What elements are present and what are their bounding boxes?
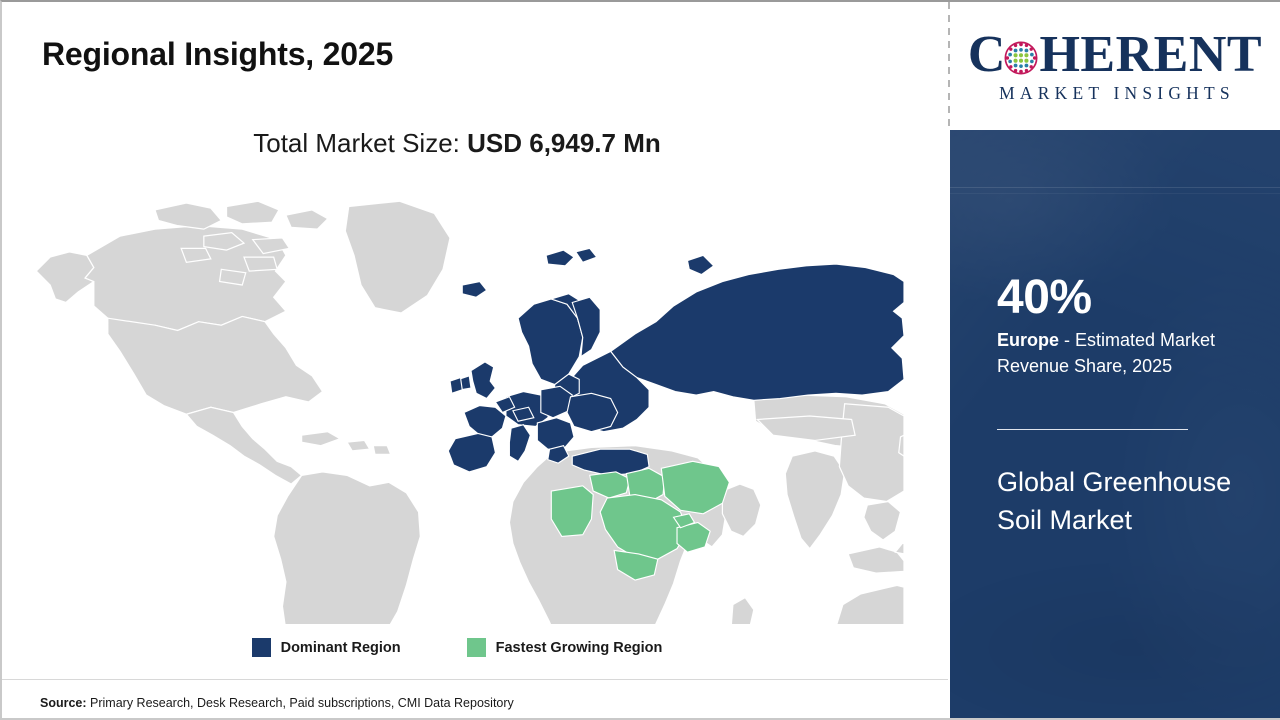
page-title: Regional Insights, 2025 (42, 36, 393, 73)
panel-divider (997, 429, 1188, 430)
share-region-name: Europe (997, 330, 1059, 350)
legend-item-fastest-growing: Fastest Growing Region (467, 638, 663, 657)
source-note: Source: Primary Research, Desk Research,… (40, 696, 514, 710)
regional-highlight-panel: 40% Europe - Estimated Market Revenue Sh… (950, 130, 1280, 718)
dominant-region-swatch (252, 638, 271, 657)
panel-streak-upper (950, 187, 1280, 188)
map-legend: Dominant Region Fastest Growing Region (2, 638, 912, 657)
market-name: Global Greenhouse Soil Market (997, 463, 1262, 540)
source-text: Primary Research, Desk Research, Paid su… (87, 696, 514, 710)
logo-wordmark-text: HERENT (1039, 29, 1262, 81)
fastest-growing-region-swatch (467, 638, 486, 657)
total-market-size: Total Market Size: USD 6,949.7 Mn (2, 128, 912, 159)
source-divider (2, 679, 948, 680)
brand-logo[interactable]: C (950, 2, 1280, 130)
share-description: Europe - Estimated Market Revenue Share,… (997, 327, 1267, 380)
panel-streak-lower (950, 193, 1280, 194)
infographic-frame: Regional Insights, 2025 Total Market Siz… (0, 0, 1280, 720)
total-market-size-label: Total Market Size: (253, 128, 467, 158)
world-map[interactable] (24, 194, 904, 624)
globe-dots-icon (1004, 41, 1038, 75)
source-label: Source: (40, 696, 87, 710)
map-panel: Regional Insights, 2025 Total Market Siz… (2, 2, 950, 718)
legend-item-dominant: Dominant Region (252, 638, 401, 657)
logo-subtitle: MARKET INSIGHTS (995, 83, 1235, 104)
logo-letter-c: C (968, 29, 1005, 81)
total-market-size-value: USD 6,949.7 Mn (467, 128, 661, 158)
logo-wordmark: C (968, 29, 1262, 81)
legend-label-fastest-growing: Fastest Growing Region (496, 640, 663, 656)
share-percentage: 40% (997, 274, 1092, 322)
legend-label-dominant: Dominant Region (281, 640, 401, 656)
panel-texture (950, 130, 1280, 718)
